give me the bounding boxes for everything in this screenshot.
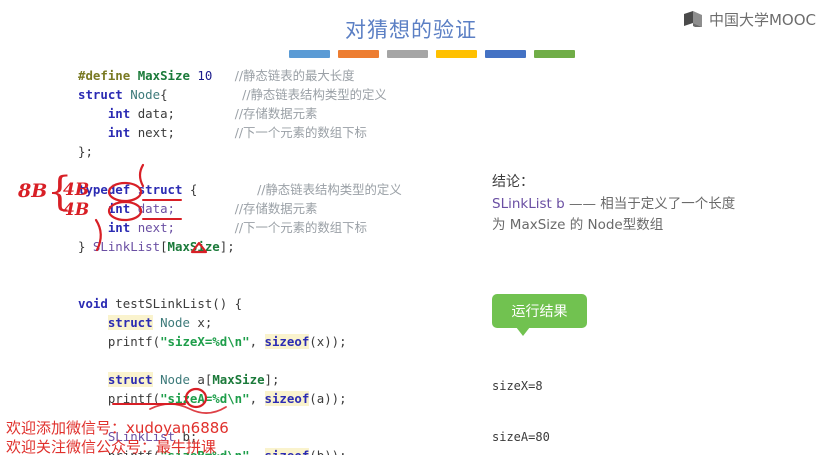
brand-logo-text: 中国大学MOOC [709,9,816,30]
code-line-struct-node-close: }; [78,142,402,161]
color-bar-1 [289,50,330,58]
brand-logo: 中国大学MOOC [683,8,816,30]
code-line-blank-4 [78,351,402,370]
book-logo-icon [683,10,705,28]
code-line-node-next: int next; //下一个元素的数组下标 [78,123,402,142]
color-bar-5 [485,50,526,58]
code-line-typedef-close: } SLinkList[MaxSize]; [78,237,402,256]
code-line-blank-1 [78,161,402,180]
code-line-blank-3 [78,275,402,294]
slide-canvas: 对猜想的验证 中国大学MOOC #define MaxSize 10 //静态链… [0,0,822,455]
code-line-print-x: printf("sizeX=%d\n", sizeof(x)); [78,332,402,351]
color-bar-2 [338,50,379,58]
code-line-node-data: int data; //存储数据元素 [78,104,402,123]
color-bar-4 [436,50,477,58]
code-line-typedef-open: typedef struct { //静态链表结构类型的定义 [78,180,402,199]
conclusion-line-2: 为 MaxSize 的 Node型数组 [492,213,663,233]
color-bar-3 [387,50,428,58]
output-line: sizeX=8 [492,378,730,395]
code-line-decl-a: struct Node a[MaxSize]; [78,370,402,389]
annotation-brace: { [47,172,72,212]
code-line-typedef-next: int next; //下一个元素的数组下标 [78,218,402,237]
code-line-func-open: void testSLinkList() { [78,294,402,313]
code-line-typedef-data: int data; //存储数据元素 [78,199,402,218]
code-line-blank-2 [78,256,402,275]
run-result-badge: 运行结果 [492,294,587,328]
code-listing: #define MaxSize 10 //静态链表的最大长度struct Nod… [78,66,402,455]
code-line-struct-node-open: struct Node{ //静态链表结构类型的定义 [78,85,402,104]
conclusion-line-1: SLinkList b —— 相当于定义了一个长度 [492,192,735,212]
watermark-line-2: 欢迎关注微信公众号：最牛拼课 [6,436,216,455]
conclusion-line-1-text: —— 相当于定义了一个长度 [565,196,736,212]
code-line-define-maxsize: #define MaxSize 10 //静态链表的最大长度 [78,66,402,85]
run-result-badge-tail [516,327,530,336]
conclusion-label: 结论： [492,171,534,191]
annotation-size-total: 8B [18,180,47,202]
conclusion-code-token: SLinkList b [492,196,565,212]
color-bar-6 [534,50,575,58]
output-line: sizeA=80 [492,429,730,446]
color-bar-strip [289,50,575,58]
code-line-print-a: printf("sizeA=%d\n", sizeof(a)); [78,389,402,408]
watermark-line-1: 欢迎添加微信号：xudoyan6886 [6,417,229,438]
code-line-decl-x: struct Node x; [78,313,402,332]
console-output: sizeX=8 sizeA=80 sizeB=80 Process finish… [492,344,730,455]
